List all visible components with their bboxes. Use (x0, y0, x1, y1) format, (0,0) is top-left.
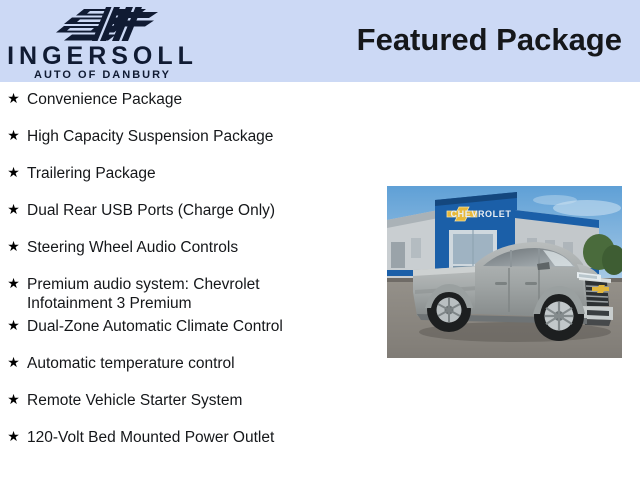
feature-label: Premium audio system: Chevrolet Infotain… (27, 271, 375, 313)
vehicle-photo: CHEVROLET (387, 186, 622, 358)
star-bullet-icon: ★ (0, 234, 27, 261)
feature-list-item: ★Steering Wheel Audio Controls (0, 234, 375, 271)
star-bullet-icon: ★ (0, 123, 27, 150)
feature-label: Dual-Zone Automatic Climate Control (27, 313, 375, 336)
feature-label: Automatic temperature control (27, 350, 375, 373)
feature-list-item: ★Dual Rear USB Ports (Charge Only) (0, 197, 375, 234)
feature-list-item: ★Convenience Package (0, 86, 375, 123)
page-title: Featured Package (357, 22, 622, 58)
star-bullet-icon: ★ (0, 197, 27, 224)
feature-label: High Capacity Suspension Package (27, 123, 375, 146)
feature-label: Steering Wheel Audio Controls (27, 234, 375, 257)
star-bullet-icon: ★ (0, 424, 27, 451)
feature-list-item: ★120-Volt Bed Mounted Power Outlet (0, 424, 375, 461)
star-bullet-icon: ★ (0, 387, 27, 414)
winged-logo-icon (50, 6, 162, 42)
feature-list: ★Convenience Package★High Capacity Suspe… (0, 86, 375, 461)
feature-label: Convenience Package (27, 86, 375, 109)
brand-logo: INGERSOLL AUTO OF DANBURY (0, 2, 205, 80)
feature-list-item: ★High Capacity Suspension Package (0, 123, 375, 160)
feature-list-item: ★Remote Vehicle Starter System (0, 387, 375, 424)
star-bullet-icon: ★ (0, 350, 27, 377)
star-bullet-icon: ★ (0, 160, 27, 187)
feature-label: Remote Vehicle Starter System (27, 387, 375, 410)
svg-text:CHEVROLET: CHEVROLET (451, 209, 512, 219)
feature-label: Dual Rear USB Ports (Charge Only) (27, 197, 375, 220)
brand-subwordmark: AUTO OF DANBURY (0, 70, 205, 81)
feature-list-item: ★Automatic temperature control (0, 350, 375, 387)
brand-wordmark: INGERSOLL (0, 44, 205, 69)
feature-list-item: ★Trailering Package (0, 160, 375, 197)
feature-label: Trailering Package (27, 160, 375, 183)
feature-list-item: ★Premium audio system: Chevrolet Infotai… (0, 271, 375, 313)
page-header: INGERSOLL AUTO OF DANBURY Featured Packa… (0, 0, 640, 82)
feature-list-item: ★Dual-Zone Automatic Climate Control (0, 313, 375, 350)
star-bullet-icon: ★ (0, 86, 27, 113)
star-bullet-icon: ★ (0, 313, 27, 340)
feature-label: 120-Volt Bed Mounted Power Outlet (27, 424, 375, 447)
star-bullet-icon: ★ (0, 271, 27, 298)
